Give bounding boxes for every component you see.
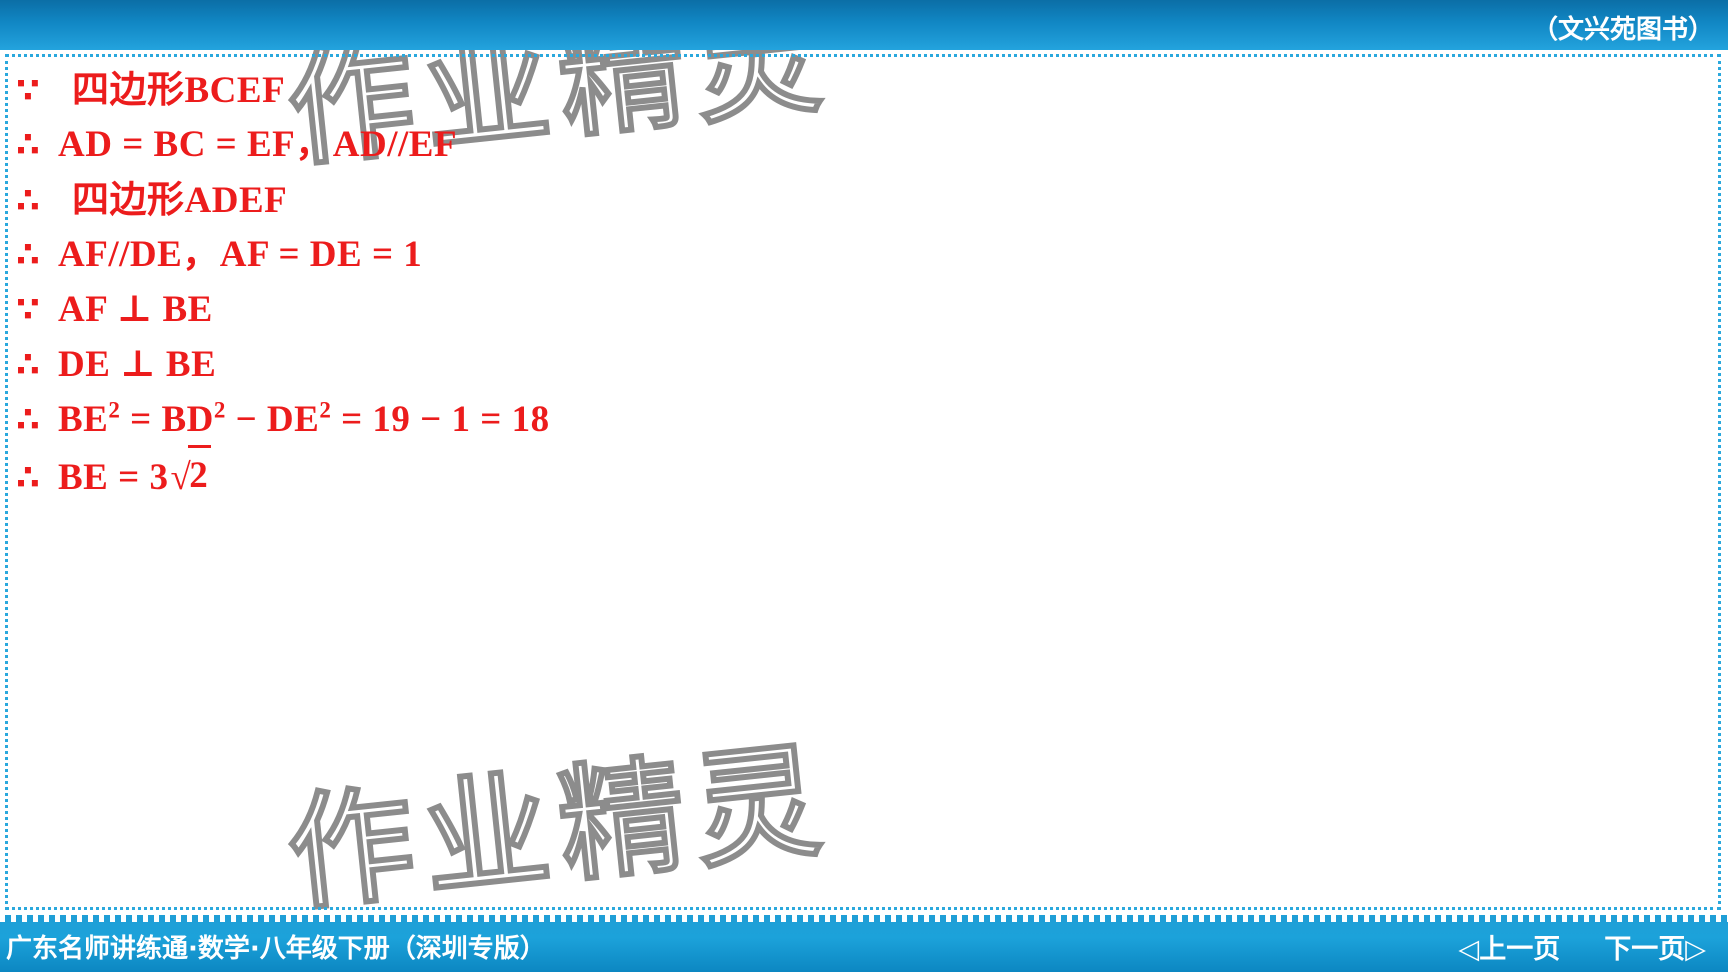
next-page-button[interactable]: 下一页▷ bbox=[1604, 927, 1706, 966]
proof-symbol: ∵ bbox=[16, 283, 58, 338]
math-expression: BCEF bbox=[185, 70, 286, 111]
proof-line: ∴BE2 = BD2 − DE2 = 19 − 1 = 18 bbox=[16, 392, 1616, 447]
math-expression: AF ⊥ BE bbox=[58, 289, 213, 330]
math-expression: ADEF bbox=[185, 180, 288, 221]
math-expression: = BD bbox=[120, 399, 213, 440]
proof-line: ∴四边形ADEF bbox=[16, 172, 1616, 227]
proof-line: ∴AF//DE，AF = DE = 1 bbox=[16, 227, 1616, 282]
math-expression: − DE bbox=[226, 399, 319, 440]
proof-line-text: DE ⊥ BE bbox=[58, 337, 216, 392]
chinese-term: 四边形 bbox=[72, 68, 185, 111]
math-expression: BE bbox=[58, 399, 108, 440]
radicand: 2 bbox=[188, 445, 211, 503]
book-title: 广东名师讲练通·数学·八年级下册（深圳专版） bbox=[6, 928, 546, 965]
math-expression: = 19 − 1 = 18 bbox=[331, 399, 549, 440]
footer-dotted-divider bbox=[0, 915, 1728, 922]
header-bar bbox=[0, 0, 1728, 50]
proof-symbol: ∴ bbox=[16, 228, 58, 283]
exponent: 2 bbox=[319, 398, 331, 423]
publisher-label: （文兴苑图书） bbox=[1532, 9, 1714, 46]
exponent: 2 bbox=[108, 398, 120, 423]
proof-line-text: AF ⊥ BE bbox=[58, 282, 213, 337]
page-navigation: ◁上一页 下一页▷ bbox=[1458, 927, 1706, 966]
math-expression: BE = 3 bbox=[58, 457, 168, 498]
exponent: 2 bbox=[214, 398, 226, 423]
proof-body: ∵四边形BCEF∴AD = BC = EF，AD//EF∴四边形ADEF∴AF/… bbox=[16, 62, 1616, 502]
proof-line-text: AF//DE，AF = DE = 1 bbox=[58, 227, 422, 282]
chinese-term: 四边形 bbox=[72, 178, 185, 221]
math-expression: DE ⊥ BE bbox=[58, 344, 216, 385]
square-root: √2 bbox=[168, 447, 211, 505]
footer-bar: 广东名师讲练通·数学·八年级下册（深圳专版） ◁上一页 下一页▷ bbox=[0, 915, 1728, 972]
math-expression: AD = BC = EF，AD//EF bbox=[58, 124, 457, 165]
proof-line-text: 四边形BCEF bbox=[58, 62, 285, 118]
proof-line: ∴AD = BC = EF，AD//EF bbox=[16, 117, 1616, 172]
proof-line: ∴DE ⊥ BE bbox=[16, 337, 1616, 392]
proof-symbol: ∴ bbox=[16, 338, 58, 393]
slide-page: （文兴苑图书） 作业精灵 ∵四边形BCEF∴AD = BC = EF，AD//E… bbox=[0, 0, 1728, 972]
proof-symbol: ∴ bbox=[16, 451, 58, 506]
proof-line: ∵AF ⊥ BE bbox=[16, 282, 1616, 337]
proof-symbol: ∵ bbox=[16, 64, 58, 119]
proof-symbol: ∴ bbox=[16, 118, 58, 173]
prev-page-button[interactable]: ◁上一页 bbox=[1458, 927, 1560, 966]
proof-symbol: ∴ bbox=[16, 393, 58, 448]
math-expression: AF//DE，AF = DE = 1 bbox=[58, 234, 422, 275]
proof-symbol: ∴ bbox=[16, 174, 58, 229]
proof-line: ∴BE = 3√2 bbox=[16, 447, 1616, 502]
proof-line-text: BE = 3√2 bbox=[58, 447, 211, 505]
proof-line-text: AD = BC = EF，AD//EF bbox=[58, 117, 457, 172]
proof-line-text: 四边形ADEF bbox=[58, 172, 287, 228]
proof-line-text: BE2 = BD2 − DE2 = 19 − 1 = 18 bbox=[58, 392, 550, 447]
proof-line: ∵四边形BCEF bbox=[16, 62, 1616, 117]
